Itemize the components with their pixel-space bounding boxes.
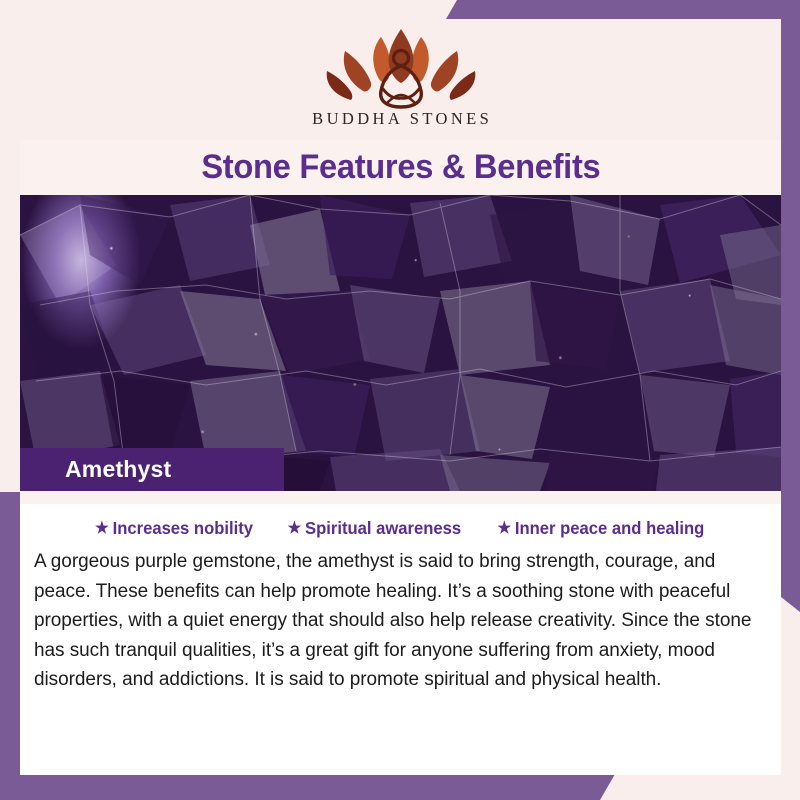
benefit-label: Increases nobility (113, 518, 253, 539)
infographic-page: BUDDHA STONES Stone Features & Benefits (0, 0, 800, 800)
crystal-sparkle-overlay (20, 195, 781, 491)
benefit-item-inner-peace-and-healing: ★ Inner peace and healing (498, 518, 705, 539)
stone-details-section: ★ Increases nobility ★ Spiritual awarene… (20, 504, 781, 775)
star-icon: ★ (288, 521, 302, 537)
lotus-meditation-figure-icon (313, 25, 489, 113)
page-title: Stone Features & Benefits (201, 148, 600, 187)
brand-wordmark: BUDDHA STONES (309, 109, 492, 129)
benefits-row: ★ Increases nobility ★ Spiritual awarene… (20, 504, 781, 541)
brand-header: BUDDHA STONES (20, 19, 781, 140)
benefit-item-increases-nobility: ★ Increases nobility (95, 518, 253, 539)
section-title-bar: Stone Features & Benefits (20, 140, 781, 195)
stone-description: A gorgeous purple gemstone, the amethyst… (34, 547, 758, 695)
benefit-item-spiritual-awareness: ★ Spiritual awareness (288, 518, 462, 539)
star-icon: ★ (95, 521, 109, 537)
amethyst-crystal-photo: Amethyst (20, 195, 781, 491)
content-card: BUDDHA STONES Stone Features & Benefits (20, 19, 781, 762)
body-divider (20, 491, 781, 504)
stone-name-banner: Amethyst (20, 448, 284, 491)
star-icon: ★ (498, 521, 512, 537)
benefit-label: Spiritual awareness (305, 518, 461, 539)
stone-name-label: Amethyst (65, 456, 171, 483)
benefit-label: Inner peace and healing (515, 518, 704, 539)
